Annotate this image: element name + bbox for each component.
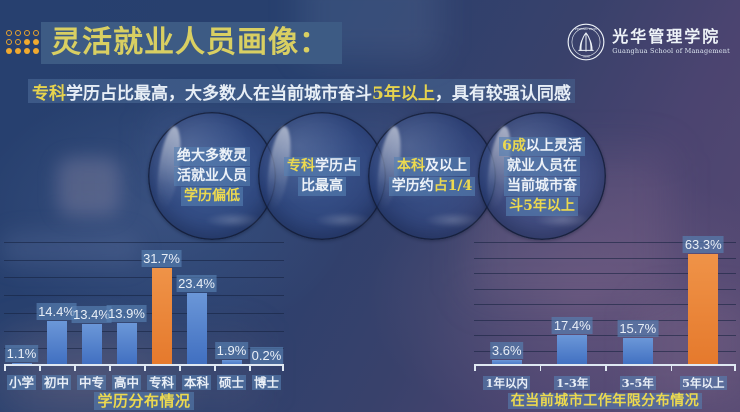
bubble-line-part: 当前城市奋 — [507, 178, 577, 194]
axis-tick — [671, 365, 673, 371]
bar-group: 13.9% — [109, 242, 144, 366]
bubble-line-part: 学历约 — [392, 178, 434, 194]
x-axis-label-text: 1-3年 — [554, 376, 590, 390]
bar[interactable] — [152, 268, 172, 366]
x-axis-label: 高中 — [109, 374, 144, 392]
logo-chinese-name: 光华管理学院 — [612, 29, 730, 46]
axis-tick — [540, 365, 542, 371]
x-axis-label: 1-3年 — [540, 374, 606, 392]
bubble-bachelor-quarter: 本科及以上学历约占1/4 — [368, 112, 496, 240]
axis-tick — [39, 365, 41, 371]
bar[interactable] — [688, 254, 718, 366]
bar-value-label: 1.1% — [5, 345, 39, 362]
bubble-line-part: 及以上 — [425, 158, 467, 174]
bubble-line: 学历约占1/4 — [389, 177, 476, 196]
bar-value-label: 1.9% — [215, 342, 249, 359]
bubble-line-part: 占1/4 — [434, 178, 473, 194]
chart-title: 学历分布情况 — [4, 392, 284, 411]
x-axis-label-text: 1年以内 — [483, 376, 530, 390]
x-axis-label: 博士 — [249, 374, 284, 392]
brand-logo: PEKING UNIV 1898 光华管理学院 Guanghua School … — [567, 23, 730, 61]
bar-value-label: 0.2% — [250, 347, 284, 364]
insight-bubble-group: 绝大多数灵活就业人员学历偏低 专科学历占比最高 本科及以上学历约占1/4 6成以… — [148, 112, 606, 244]
background-blur-monitor — [58, 158, 120, 216]
bar-group: 1.1% — [4, 242, 39, 366]
x-axis-label-text: 小学 — [7, 375, 36, 390]
axis-tick — [605, 365, 607, 371]
bar-group: 1.9% — [214, 242, 249, 366]
bar-value-label: 31.7% — [141, 250, 182, 267]
axis-tick — [144, 365, 146, 371]
bubble-line: 6成以上灵活 — [499, 137, 585, 156]
bubble-line: 就业人员在 — [504, 157, 580, 176]
peking-university-seal-icon: PEKING UNIV 1898 — [567, 23, 605, 61]
dot-grid-icon — [6, 30, 46, 54]
axis-tick — [109, 365, 111, 371]
axis-tick — [214, 365, 216, 371]
bubble-line: 本科及以上 — [394, 157, 470, 176]
bubble-line: 比最高 — [298, 177, 346, 196]
bubble-line: 活就业人员 — [174, 167, 250, 186]
bar-group: 63.3% — [671, 242, 737, 366]
bar-group: 23.4% — [179, 242, 214, 366]
bar-group: 3.6% — [474, 242, 540, 366]
bar-value-label: 17.4% — [552, 317, 593, 334]
bubble-college-share: 专科学历占比最高 — [258, 112, 386, 240]
x-axis-label: 5年以上 — [671, 374, 737, 392]
bar-group: 15.7% — [605, 242, 671, 366]
page-title: 灵活就业人员画像： — [41, 22, 342, 64]
axis-tick — [74, 365, 76, 371]
x-axis-label-text: 硕士 — [217, 375, 246, 390]
x-axis-label: 中专 — [74, 374, 109, 392]
bar-value-label: 3.6% — [490, 342, 524, 359]
page-subtitle-part-0: 专科 — [32, 79, 66, 104]
bubble-line-part: 专科 — [287, 158, 315, 174]
page-title-text: 灵活就业人员画像： — [51, 28, 330, 58]
page-subtitle-part-1: 学历占比最高，大多数人在当前城市奋斗 — [66, 79, 372, 104]
bar[interactable] — [623, 338, 653, 366]
bar-group: 0.2% — [249, 242, 284, 366]
x-axis-label: 硕士 — [214, 374, 249, 392]
bubble-line: 斗5年以上 — [506, 197, 578, 216]
axis-tick — [4, 365, 6, 371]
x-axis-label-text: 高中 — [112, 375, 141, 390]
x-axis-label-text: 专科 — [147, 375, 176, 390]
axis-tick — [734, 365, 736, 371]
x-axis-label: 专科 — [144, 374, 179, 392]
page-subtitle-part-3: ，具有较强认同感 — [435, 79, 571, 104]
chart-title: 在当前城市工作年限分布情况 — [474, 392, 736, 411]
bar-value-label: 63.3% — [683, 236, 724, 253]
education-distribution-chart: 1.1%14.4%13.4%13.9%31.7%23.4%1.9%0.2% 小学… — [4, 242, 284, 412]
svg-text:PEKING UNIV: PEKING UNIV — [575, 27, 598, 31]
bar[interactable] — [187, 293, 207, 366]
bubble-line: 学历偏低 — [181, 187, 243, 206]
axis-tick — [474, 365, 476, 371]
page-subtitle-part-2: 5年以上 — [372, 79, 435, 104]
slide-canvas: 灵活就业人员画像： 专科学历占比最高，大多数人在当前城市奋斗5年以上，具有较强认… — [0, 0, 740, 412]
x-axis-label-text: 中专 — [77, 375, 106, 390]
x-axis-label: 本科 — [179, 374, 214, 392]
x-axis-label: 小学 — [4, 374, 39, 392]
bubble-line: 绝大多数灵 — [174, 147, 250, 166]
logo-english-name: Guanghua School of Management — [612, 47, 730, 55]
bar-group: 13.4% — [74, 242, 109, 366]
page-subtitle: 专科学历占比最高，大多数人在当前城市奋斗5年以上，具有较强认同感 — [28, 79, 575, 103]
bubble-line-part: 以上灵活 — [526, 138, 582, 154]
bubble-education-low: 绝大多数灵活就业人员学历偏低 — [148, 112, 276, 240]
x-axis-label-text: 3-5年 — [620, 376, 656, 390]
x-axis-label: 1年以内 — [474, 374, 540, 392]
bar-group: 17.4% — [540, 242, 606, 366]
bar[interactable] — [82, 324, 102, 366]
bubble-line-part: 比最高 — [301, 178, 343, 194]
axis-tick — [249, 365, 251, 371]
x-axis-label-text: 本科 — [182, 375, 211, 390]
bar[interactable] — [557, 335, 587, 366]
axis-tick — [282, 365, 284, 371]
bar-group: 31.7% — [144, 242, 179, 366]
x-axis-label-text: 5年以上 — [680, 376, 727, 390]
bar-value-label: 15.7% — [617, 320, 658, 337]
bar-value-label: 13.9% — [106, 305, 147, 322]
bubble-five-years: 6成以上灵活就业人员在当前城市奋斗5年以上 — [478, 112, 606, 240]
bubble-line-part: 活就业人员 — [177, 168, 247, 184]
bubble-line-part: 学历偏低 — [184, 188, 240, 204]
x-axis-label-text: 博士 — [252, 375, 281, 390]
bar[interactable] — [47, 321, 67, 366]
bar-value-label: 23.4% — [176, 275, 217, 292]
x-axis-label: 初中 — [39, 374, 74, 392]
bubble-line: 专科学历占 — [284, 157, 360, 176]
bar-group: 14.4% — [39, 242, 74, 366]
bubble-line: 当前城市奋 — [504, 177, 580, 196]
bar[interactable] — [117, 323, 137, 366]
bubble-line-part: 6成 — [502, 138, 526, 154]
x-axis-label: 3-5年 — [605, 374, 671, 392]
years-in-current-city-chart: 3.6%17.4%15.7%63.3% 1年以内1-3年3-5年5年以上 在当前… — [474, 242, 736, 412]
bubble-line-part: 绝大多数灵 — [177, 148, 247, 164]
x-axis-label-text: 初中 — [42, 375, 71, 390]
svg-text:1898: 1898 — [582, 55, 590, 59]
bubble-line-part: 斗5年以上 — [509, 198, 575, 214]
bubble-line-part: 本科 — [397, 158, 425, 174]
bubble-line-part: 学历占 — [315, 158, 357, 174]
axis-tick — [179, 365, 181, 371]
bubble-line-part: 就业人员在 — [507, 158, 577, 174]
